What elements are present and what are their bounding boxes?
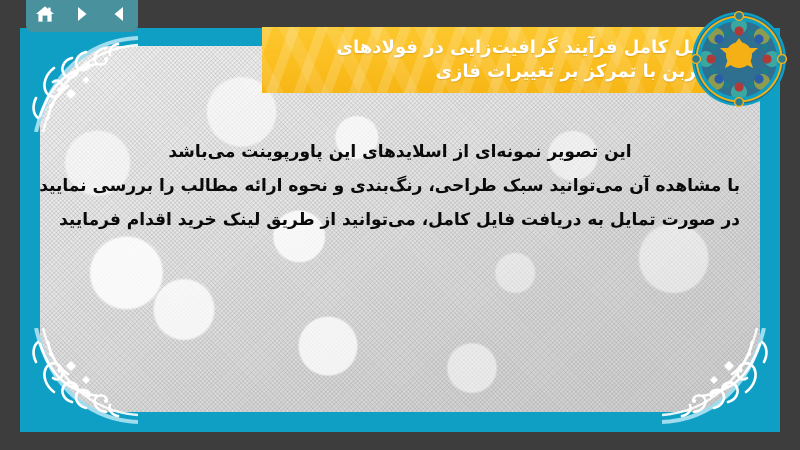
home-button[interactable] (30, 1, 60, 27)
body-line-2: با مشاهده آن می‌توانید سبک طراحی، رنگ‌بن… (60, 174, 740, 200)
title-band-teal-accent (747, 27, 760, 93)
body-line-3: در صورت تمایل به دریافت فایل کامل، می‌تو… (60, 208, 740, 234)
slide-title-line-2: پرکربن با تمرکز بر تغییرات فازی (320, 60, 725, 84)
triangle-right-icon (73, 5, 91, 23)
slide-body-text: این تصویر نمونه‌ای از اسلایدهای این پاور… (60, 140, 740, 241)
title-band-body: تحلیل کامل فرآیند گرافیت‌زایی در فولادها… (262, 27, 747, 93)
slide-canvas: تحلیل کامل فرآیند گرافیت‌زایی در فولادها… (0, 0, 800, 450)
triangle-left-icon (110, 5, 128, 23)
previous-slide-button[interactable] (104, 1, 134, 27)
slideshow-navigation-bar (26, 0, 138, 32)
home-icon (35, 5, 55, 23)
body-line-1: این تصویر نمونه‌ای از اسلایدهای این پاور… (60, 140, 740, 166)
slide-title: تحلیل کامل فرآیند گرافیت‌زایی در فولادها… (262, 36, 747, 85)
slide-title-band: تحلیل کامل فرآیند گرافیت‌زایی در فولادها… (262, 27, 760, 93)
next-slide-button[interactable] (67, 1, 97, 27)
slide-title-line-1: تحلیل کامل فرآیند گرافیت‌زایی در فولادها… (320, 36, 725, 60)
